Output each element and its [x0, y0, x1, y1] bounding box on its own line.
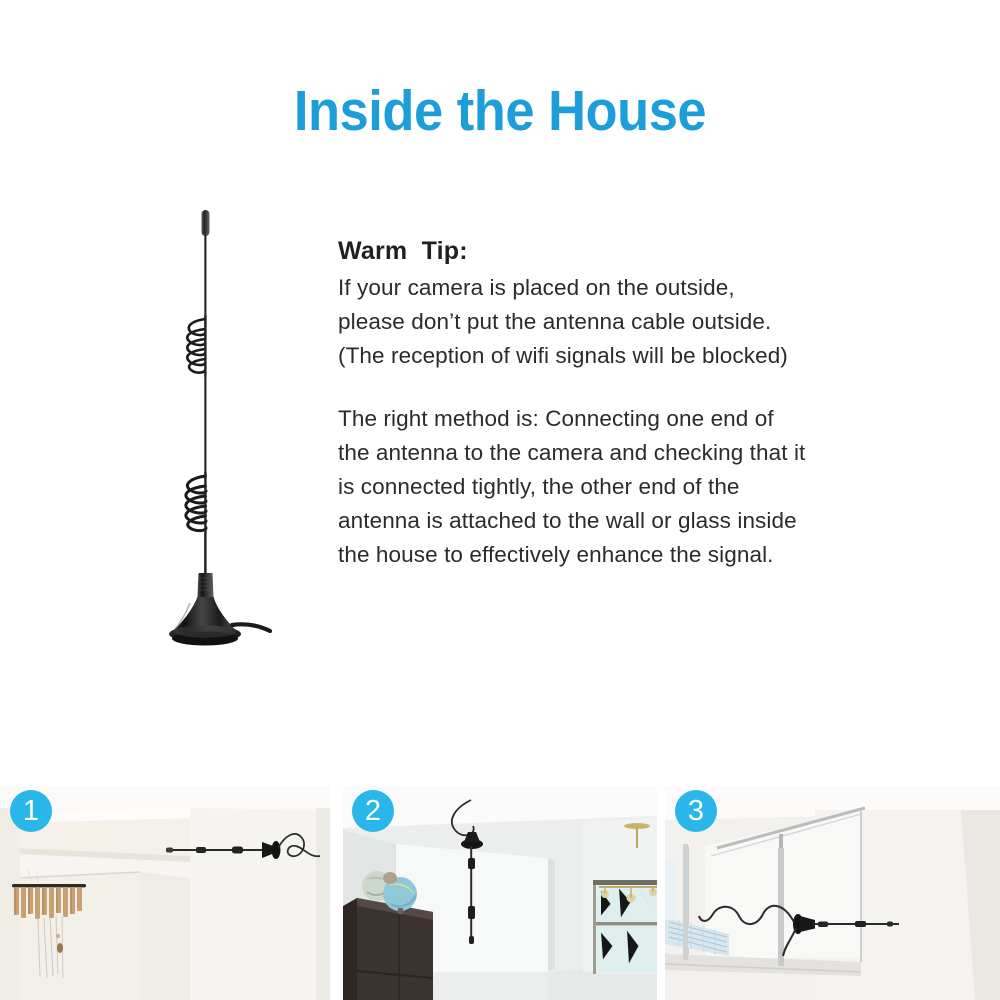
- product-image-antenna: [120, 195, 300, 655]
- page-title: Inside the House: [40, 80, 960, 142]
- paragraph-1-line-1: If your camera is placed on the outside,: [338, 271, 868, 305]
- warm-tip-block: Warm Tip: If your camera is placed on th…: [338, 236, 868, 572]
- gallery-photo-3: 3: [665, 786, 1000, 1000]
- antenna-rod-mid: [204, 373, 206, 479]
- antenna-tip-cap: [202, 210, 210, 236]
- installation-photo-gallery: 1: [0, 786, 1000, 1000]
- antenna-coil-upper: [187, 319, 205, 373]
- warm-tip-paragraph-2: The right method is: Connecting one end …: [338, 402, 868, 572]
- paragraph-1-line-2: please don’t put the antenna cable outsi…: [338, 305, 868, 339]
- paragraph-2-line-4: antenna is attached to the wall or glass…: [338, 504, 868, 538]
- paragraph-2-line-1: The right method is: Connecting one end …: [338, 402, 868, 436]
- photo-badge-3: 3: [675, 790, 717, 832]
- paragraph-2-line-3: is connected tightly, the other end of t…: [338, 470, 868, 504]
- antenna-coil-lower: [186, 476, 206, 531]
- antenna-cable: [232, 624, 270, 631]
- paragraph-2-line-2: the antenna to the camera and checking t…: [338, 436, 868, 470]
- antenna-rod-lower: [204, 531, 207, 575]
- paragraph-1-line-3: (The reception of wifi signals will be b…: [338, 339, 868, 373]
- photo-badge-1: 1: [10, 790, 52, 832]
- gallery-photo-1: 1: [0, 786, 330, 1000]
- antenna-illustration: [120, 195, 300, 655]
- photo-badge-2: 2: [352, 790, 394, 832]
- warm-tip-paragraph-1: If your camera is placed on the outside,…: [338, 271, 868, 373]
- product-infographic-page: Inside the House: [0, 0, 1000, 1000]
- dark-cabinet: [343, 898, 433, 1000]
- warm-tip-heading: Warm Tip:: [338, 236, 868, 266]
- gallery-photo-2: 2: [343, 786, 657, 1000]
- paragraph-2-line-5: the house to effectively enhance the sig…: [338, 538, 868, 572]
